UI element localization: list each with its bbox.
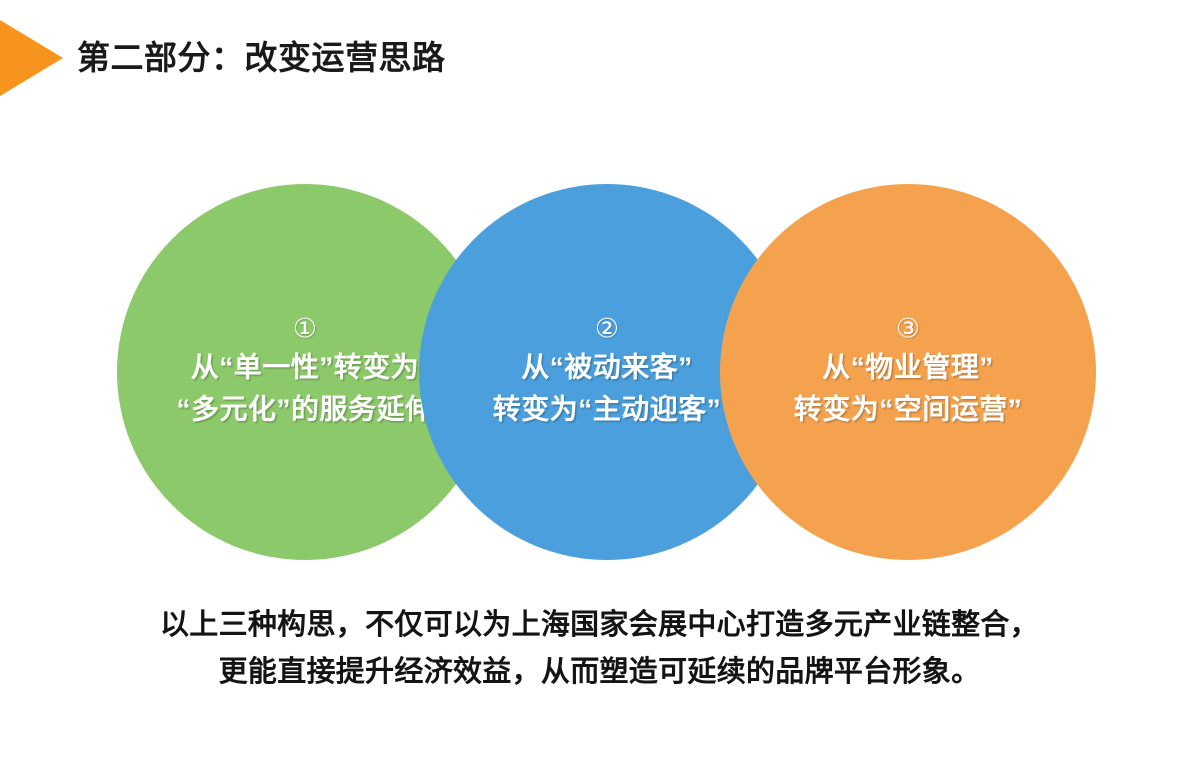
- circle-3-content: ③ 从“物业管理” 转变为“空间运营”: [720, 314, 1096, 431]
- caption-line-2: 更能直接提升经济效益，从而塑造可延续的品牌平台形象。: [0, 649, 1199, 696]
- circled-number-3-icon: ③: [726, 314, 1090, 344]
- caption-line-1: 以上三种构思，不仅可以为上海国家会展中心打造多元产业链整合，: [0, 602, 1199, 649]
- circle-item-3[interactable]: ③ 从“物业管理” 转变为“空间运营”: [720, 184, 1096, 560]
- circle-3-line-2: 转变为“空间运营”: [726, 389, 1090, 431]
- summary-caption: 以上三种构思，不仅可以为上海国家会展中心打造多元产业链整合， 更能直接提升经济效…: [0, 602, 1199, 696]
- circle-3-line-1: 从“物业管理”: [726, 347, 1090, 389]
